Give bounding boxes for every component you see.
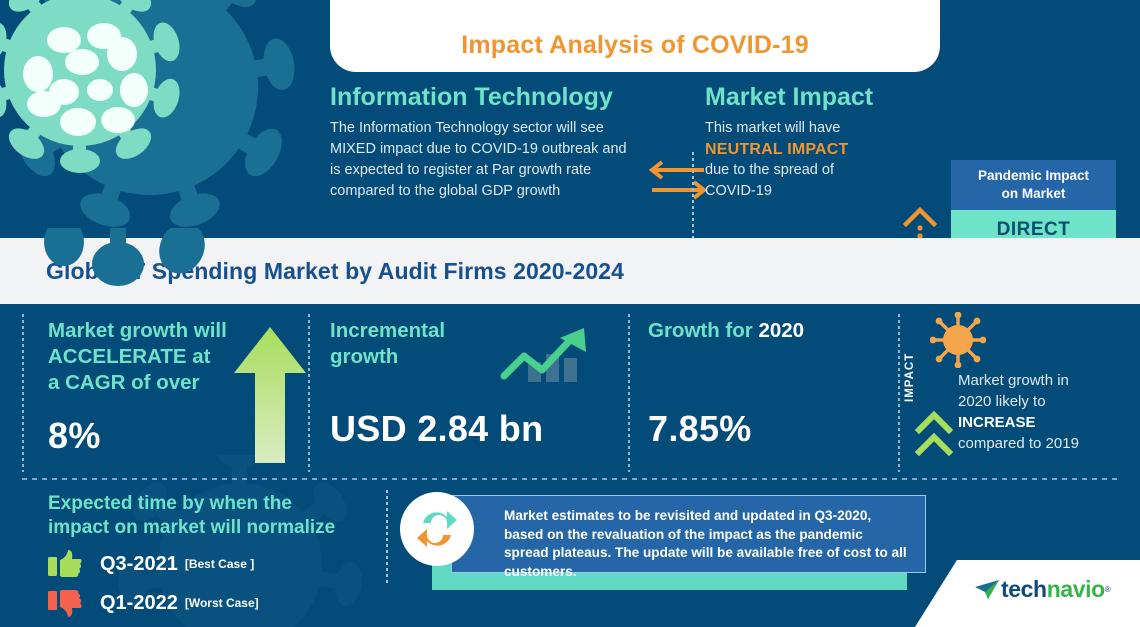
best-case-row: Q3-2021 [Best Case ] xyxy=(48,549,378,579)
stats-divider-1 xyxy=(308,314,310,472)
pandemic-impact-header: Pandemic Impact on Market xyxy=(951,160,1116,210)
right-impact-line3: compared to 2019 xyxy=(958,433,1140,454)
growth-title-mint: Growth for xyxy=(648,319,753,342)
logo-text-tech: tech xyxy=(1001,576,1047,602)
market-impact-column: Market Impact This market will have NEUT… xyxy=(705,82,920,202)
up-arrow-icon xyxy=(232,325,308,465)
right-impact-label: IMPACT xyxy=(904,328,916,402)
stats-divider-2 xyxy=(628,314,630,472)
virus-spikes-decor-icon xyxy=(42,228,282,304)
stats-divider-left xyxy=(22,314,24,472)
refresh-arrows-icon xyxy=(413,505,461,553)
market-impact-heading: Market Impact xyxy=(705,82,920,112)
best-case-note: [Best Case ] xyxy=(185,557,254,571)
incremental-value: USD 2.84 bn xyxy=(330,408,543,450)
growth-title-year: 2020 xyxy=(758,319,804,342)
normalize-block: Expected time by when the impact on mark… xyxy=(48,492,378,618)
infographic-canvas: Impact Analysis of COVID-19 Information … xyxy=(0,0,1140,627)
pandemic-header-line2: on Market xyxy=(957,185,1110,203)
callout-text: Market estimates to be revisited and upd… xyxy=(504,507,911,581)
thumbs-up-icon xyxy=(48,549,82,579)
pandemic-header-line1: Pandemic Impact xyxy=(957,167,1110,185)
double-chevron-up-icon xyxy=(914,406,954,468)
worst-case-note: [Worst Case] xyxy=(185,596,259,610)
logo-trademark: ® xyxy=(1105,585,1111,594)
thumbs-down-icon xyxy=(48,588,82,618)
growth-2020-value: 7.85% xyxy=(648,408,752,450)
right-impact-line1: Market growth in xyxy=(958,370,1140,391)
right-impact-block: IMPACT Market gr xyxy=(906,310,1140,480)
title-banner: Impact Analysis of COVID-19 xyxy=(330,0,940,72)
worst-case-row: Q1-2022 [Worst Case] xyxy=(48,588,378,618)
subtitle-band: Global IT Spending Market by Audit Firms… xyxy=(0,238,1140,304)
pandemic-impact-box: Pandemic Impact on Market DIRECT xyxy=(951,160,1116,250)
it-heading: Information Technology xyxy=(330,82,640,112)
market-impact-line2: due to the spread of xyxy=(705,160,920,181)
page-title: Impact Analysis of COVID-19 xyxy=(461,31,809,60)
stat-growth-2020: Growth for 2020 7.85% xyxy=(648,318,898,344)
right-impact-text: Market growth in 2020 likely to INCREASE… xyxy=(958,370,1140,454)
technavio-logo: technavio ® xyxy=(975,576,1111,603)
paper-plane-icon xyxy=(975,579,1001,601)
trend-up-chart-icon xyxy=(498,326,594,386)
callout-box: Market estimates to be revisited and upd… xyxy=(451,495,926,573)
cagr-value: 8% xyxy=(48,415,101,457)
normalize-heading-line1: Expected time by when the xyxy=(48,492,378,516)
stats-divider-3 xyxy=(898,314,900,472)
normalize-heading-line2: impact on market will normalize xyxy=(48,516,378,540)
logo-text-navio: navio xyxy=(1047,576,1105,602)
refresh-badge xyxy=(400,492,474,566)
best-case-label: Q3-2021 xyxy=(100,553,178,576)
market-impact-line3: COVID-19 xyxy=(705,181,920,202)
right-impact-line2: 2020 likely to xyxy=(958,391,1140,412)
it-body: The Information Technology sector will s… xyxy=(330,118,640,202)
market-impact-highlight: NEUTRAL IMPACT xyxy=(705,139,920,160)
market-impact-line1: This market will have xyxy=(705,118,920,139)
bidirectional-arrow-icon xyxy=(648,158,708,208)
worst-case-label: Q1-2022 xyxy=(100,592,178,615)
virus-icon xyxy=(930,312,986,368)
impact-overview-row: Information Technology The Information T… xyxy=(0,72,1140,235)
right-impact-emphasis: INCREASE xyxy=(958,414,1036,431)
information-technology-column: Information Technology The Information T… xyxy=(330,82,640,202)
